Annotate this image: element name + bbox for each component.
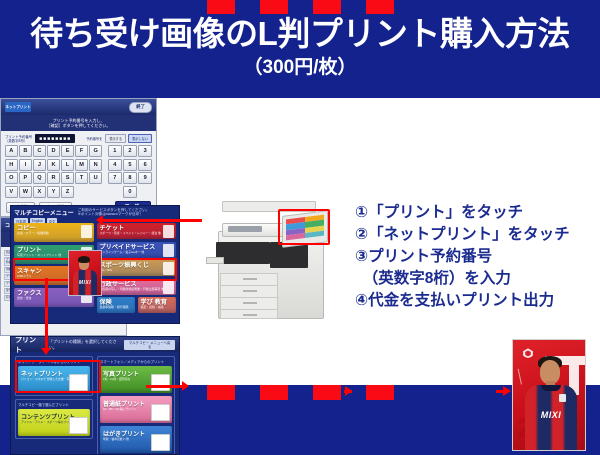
code-input-label: プリント予約番号 （英数字8桁）	[5, 135, 32, 143]
key-r[interactable]: R	[47, 172, 60, 184]
arrow-menu-to-print-line	[45, 278, 48, 350]
menu-item-left-0[interactable]: コピー白黒・カラー／各種用紙	[14, 223, 94, 242]
key-h[interactable]: H	[5, 159, 18, 171]
entry-instruction: プリント予約番号を入力し、 ［確認］ボタンを押してください。	[1, 115, 156, 131]
visibility-toggle[interactable]: 表示する 表示しない	[105, 134, 152, 143]
step-item-1: ①「プリント」をタッチ	[355, 202, 595, 224]
steps-list: ①「プリント」をタッチ②「ネットプリント」をタッチ③プリント予約番号 （英数字8…	[355, 202, 595, 312]
note-line-2: ※ポイント対象はnanacoマークが目印！	[78, 212, 150, 216]
key-y[interactable]: Y	[47, 186, 60, 198]
top-decoration-bar	[0, 0, 600, 14]
key-f[interactable]: F	[75, 145, 88, 157]
code-input-row: プリント予約番号 （英数字8桁） ■■■■■■■■ 予約番号を 表示する 表示し…	[1, 131, 156, 145]
key-num-7[interactable]: 7	[108, 172, 122, 184]
netprint-header: ネットプリント 終了	[1, 99, 156, 115]
print-screen-title: プリント	[15, 336, 43, 355]
step-item-4: （英数字8桁）を入力	[355, 268, 595, 290]
key-l[interactable]: L	[61, 159, 74, 171]
key-k[interactable]: K	[47, 159, 60, 171]
content-area: マルチコピーメニュー 日本語 English 中文 ご利用のサービスボタンを押し…	[0, 98, 600, 385]
key-q[interactable]: Q	[33, 172, 46, 184]
menu-item-desc: スポーツ・音楽・イベント・レジャー・宿泊 他	[100, 232, 174, 235]
print-groups-right: スマートフォン／メディアからのプリント 写真プリント L判・2L判・証明写真 普…	[97, 356, 175, 455]
key-num-8[interactable]: 8	[123, 172, 137, 184]
contentprint-button[interactable]: コンテンツプリント アイドル・アニメ・ スポーツ等のプリント	[18, 409, 90, 436]
entry-instruction-line2: ［確認］ボタンを押してください。	[1, 123, 156, 128]
multicopy-machine-photo	[200, 201, 340, 323]
key-g[interactable]: G	[89, 145, 102, 157]
show-code-option[interactable]: 表示する	[105, 134, 126, 143]
print-group-media-label: スマートフォン／メディアからのプリント	[100, 359, 172, 364]
key-i[interactable]: I	[19, 159, 32, 171]
key-num-1[interactable]: 1	[108, 145, 122, 157]
menu-item-desc: オンラインゲーム・電子маネー 他	[100, 251, 174, 254]
club-crest-icon	[521, 347, 535, 361]
print-screen-header: プリント 「プリントの種類」を選択してください。 マルチコピー メニューへ戻る	[11, 337, 179, 352]
menu-item-desc: 白黒・カラー／各種用紙	[17, 232, 91, 235]
page-subtitle: （300円/枚）	[0, 55, 600, 81]
arrow-machine-to-menu-line	[100, 219, 202, 222]
key-u[interactable]: U	[89, 172, 102, 184]
key-t[interactable]: T	[75, 172, 88, 184]
contentprint-thumbnail	[69, 417, 88, 434]
exit-button[interactable]: 終了	[129, 102, 152, 113]
decoration-block	[260, 385, 288, 400]
menu-item-pair-1[interactable]: 学び 教育検定・資格・講座	[138, 297, 177, 313]
menu-item-right-0[interactable]: チケットスポーツ・音楽・イベント・レジャー・宿泊 他	[97, 223, 177, 239]
printer-output-tray	[216, 242, 270, 264]
print-group-content: マルチコピー機で選んだプリント コンテンツプリント アイドル・アニメ・ スポーツ…	[15, 399, 93, 439]
visibility-option-label: 予約番号を	[86, 136, 102, 141]
key-s[interactable]: S	[61, 172, 74, 184]
decoration-block	[207, 0, 235, 14]
decoration-block	[313, 0, 341, 14]
arrow-machine-to-menu-head	[96, 215, 103, 225]
key-p[interactable]: P	[19, 172, 32, 184]
plainpaperprint-button[interactable]: 普通紙プリント A4・B5・A3 等にプリント	[100, 396, 172, 423]
menu-item-pair-0[interactable]: 保険自動車保険・旅行保険	[97, 297, 136, 313]
key-w[interactable]: W	[19, 186, 32, 198]
key-num-5[interactable]: 5	[123, 159, 137, 171]
title-block: 待ち受け画像のL判プリント購入方法 （300円/枚）	[0, 14, 600, 81]
keypad-area[interactable]: ABCDEFGHIJKLMNOPQRSTUVWXYZ 1234567890	[1, 145, 156, 198]
print-screen-subtitle: 「プリントの種類」を選択してください。	[49, 339, 124, 351]
decoration-block	[366, 0, 394, 14]
key-o[interactable]: O	[5, 172, 18, 184]
page-title: 待ち受け画像のL判プリント購入方法	[0, 14, 600, 54]
jersey-sponsor: MIXI	[533, 410, 569, 420]
code-input-field[interactable]: ■■■■■■■■	[35, 134, 75, 143]
highlight-touch-panel	[278, 209, 330, 245]
hide-code-option[interactable]: 表示しない	[128, 134, 152, 143]
menu-item-icon	[163, 281, 174, 294]
key-d[interactable]: D	[47, 145, 60, 157]
arrow-menu-to-print-head	[41, 348, 51, 355]
menu-item-desc: 自動車保険・旅行保険	[100, 306, 133, 309]
key-v[interactable]: V	[5, 186, 18, 198]
key-num-4[interactable]: 4	[108, 159, 122, 171]
menu-bottom-pair: 保険自動車保険・旅行保険学び 教育検定・資格・講座	[97, 297, 177, 313]
key-m[interactable]: M	[75, 159, 88, 171]
key-j[interactable]: J	[33, 159, 46, 171]
back-to-menu-button[interactable]: マルチコピー メニューへ戻る	[124, 340, 175, 350]
key-z[interactable]: Z	[61, 186, 74, 198]
multicopy-menu-title: マルチコピーメニュー	[14, 208, 74, 217]
decoration-block	[207, 385, 235, 400]
menu-item-desc: 検定・資格・講座	[141, 306, 174, 309]
key-num-2[interactable]: 2	[123, 145, 137, 157]
plainpaperprint-thumbnail	[151, 404, 170, 421]
bottom-decoration-bar	[0, 385, 600, 400]
print-group-content-label: マルチコピー機で選んだプリント	[18, 402, 90, 407]
postcardprint-button[interactable]: はがきプリント 年賀・暑中見舞い 他	[100, 426, 172, 453]
key-num-0[interactable]: 0	[123, 186, 137, 198]
poster-root: 待ち受け画像のL判プリント購入方法 （300円/枚） マルチコピーメニュー 日本…	[0, 0, 600, 400]
postcardprint-thumbnail	[151, 434, 170, 451]
key-num-3[interactable]: 3	[138, 145, 152, 157]
netprint-code-entry-screen[interactable]: ネットプリント 終了 プリント予約番号を入力し、 ［確認］ボタンを押してください…	[0, 98, 157, 217]
netprint-logo: ネットプリント	[5, 102, 31, 112]
key-num-9[interactable]: 9	[138, 172, 152, 184]
key-e[interactable]: E	[61, 145, 74, 157]
step-item-2: ②「ネットプリント」をタッチ	[355, 224, 595, 246]
code-label-line1: プリント予約番号	[5, 135, 32, 139]
decoration-block	[313, 385, 341, 400]
number-keypad[interactable]: 1234567890	[108, 145, 152, 198]
key-a[interactable]: A	[5, 145, 18, 157]
menu-item-desc: 送信・受信	[17, 297, 91, 300]
menu-item-desc: 住民票の写し・印鑑登録証明書・戸籍全部事項 他	[100, 288, 174, 291]
key-x[interactable]: X	[33, 186, 46, 198]
menu-item-icon	[81, 225, 92, 238]
decoration-block	[366, 385, 394, 400]
key-c[interactable]: C	[33, 145, 46, 157]
key-b[interactable]: B	[19, 145, 32, 157]
menu-item-icon	[163, 244, 174, 257]
multicopy-menu-note: ご利用のサービスボタンを押してください。 ※ポイント対象はnanacoマークが目…	[78, 208, 150, 217]
printer-side-tray	[206, 257, 224, 264]
decoration-block	[260, 0, 288, 14]
printer-control-strip	[228, 226, 262, 232]
code-label-line2: （英数字8桁）	[5, 139, 32, 143]
step-item-5: ④代金を支払いプリント出力	[355, 290, 595, 312]
step-item-3: ③プリント予約番号	[355, 246, 595, 268]
key-n[interactable]: N	[89, 159, 102, 171]
menu-item-right-1[interactable]: プリペイドサービスオンラインゲーム・電子маネー 他	[97, 242, 177, 258]
print-group-media: スマートフォン／メディアからのプリント 写真プリント L判・2L判・証明写真 普…	[97, 356, 175, 455]
menu-item-icon	[163, 225, 174, 238]
key-num-6[interactable]: 6	[138, 159, 152, 171]
printer-drawer-4	[220, 309, 278, 319]
letter-keypad[interactable]: ABCDEFGHIJKLMNOPQRSTUVWXYZ	[5, 145, 102, 198]
